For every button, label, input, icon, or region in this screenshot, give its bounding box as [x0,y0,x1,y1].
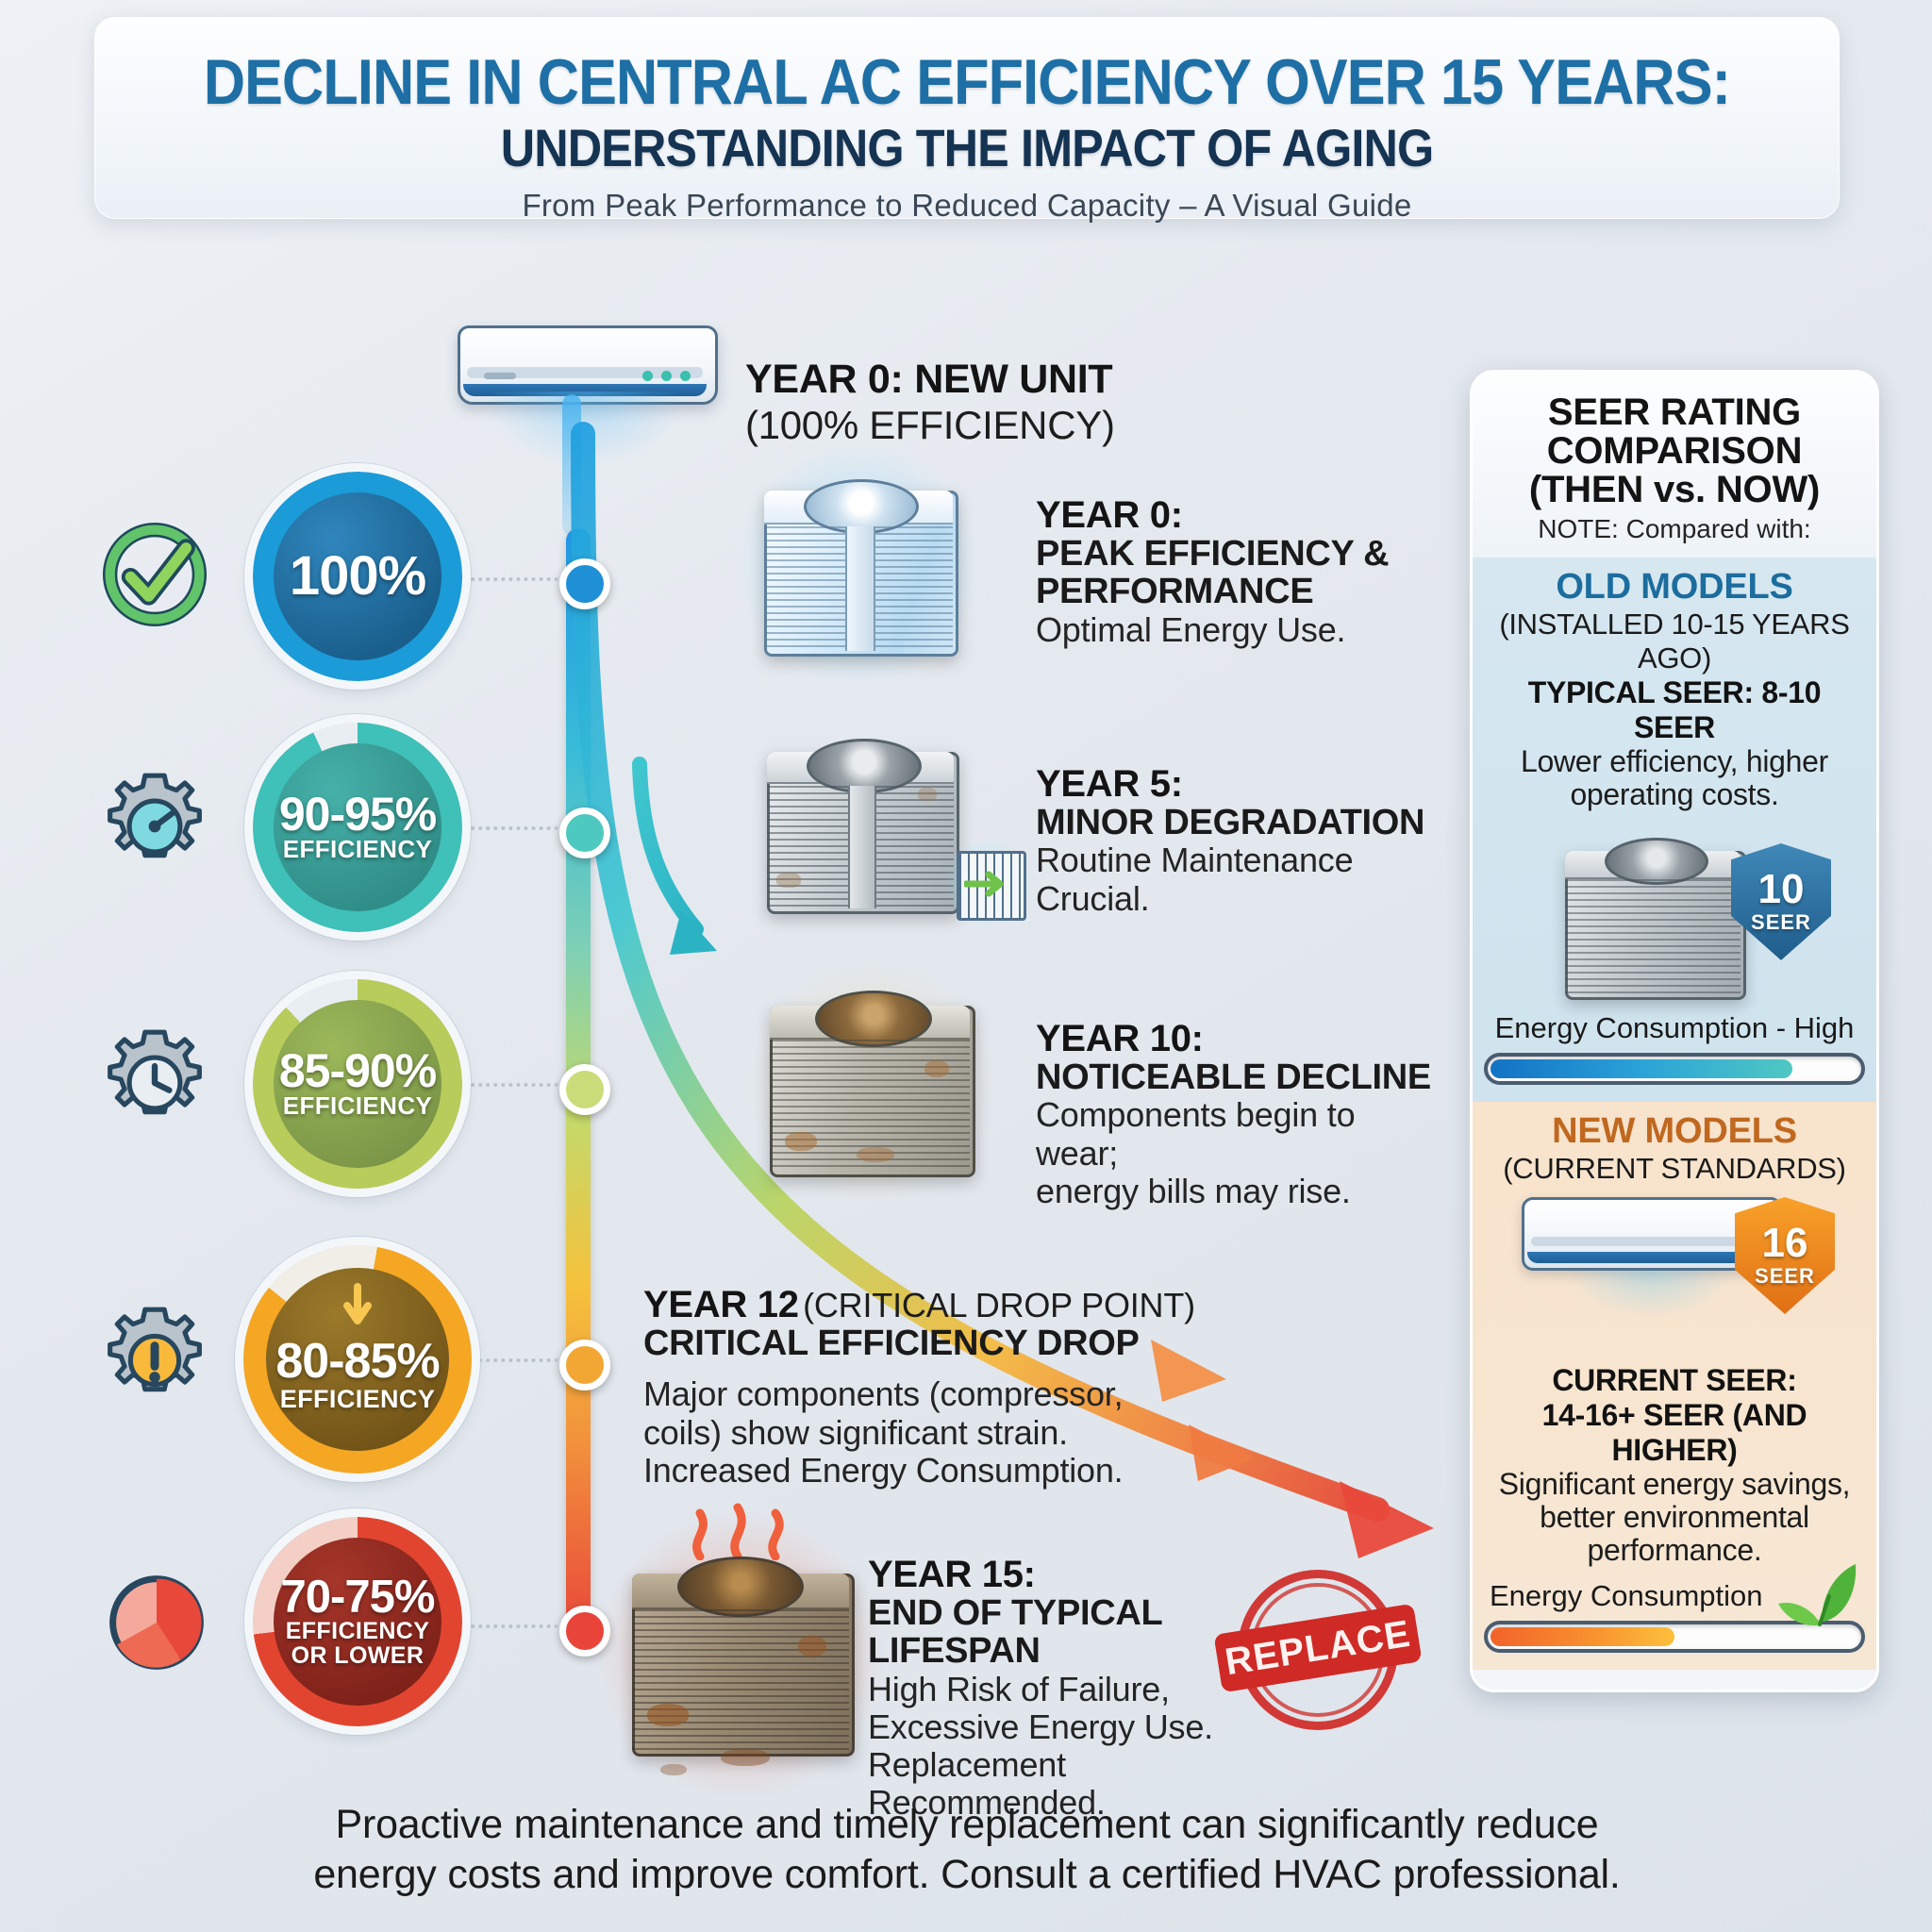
old-models-section: OLD MODELS (INSTALLED 10-15 YEARS AGO) T… [1473,558,1876,1102]
seer-comparison-panel: SEER RATING COMPARISON (THEN vs. NOW) NO… [1470,370,1879,1692]
milestone-year-10: YEAR 10: NOTICEABLE DECLINE Components b… [1036,1019,1441,1210]
gear-alert-icon [94,1300,215,1421]
milestone-year-12-headline: CRITICAL EFFICIENCY DROP [643,1324,1172,1362]
air-filter-icon [943,838,1034,928]
gauge-80-85[interactable]: 80-85% EFFICIENCY [243,1245,472,1474]
milestone-year-12-year-note: (CRITICAL DROP POINT) [803,1286,1195,1324]
condenser-year-10 [762,981,979,1184]
new-seer-badge-label: SEER [1755,1264,1815,1289]
timeline-node-year-10[interactable] [559,1064,610,1115]
milestone-year-0: YEAR 0: PEAK EFFICIENCY & PERFORMANCE Op… [1036,495,1432,649]
gauge-inner-85-90: 85-90% EFFICIENCY [274,1000,441,1168]
new-models-body-1: Significant energy savings, [1484,1468,1865,1501]
seer-title-line-1: SEER RATING [1486,393,1863,432]
old-seer-badge-label: SEER [1751,910,1811,935]
milestone-year-0-body: Optimal Energy Use. [1036,611,1432,649]
indicator-lights [642,371,693,381]
gauge-85-90[interactable]: 85-90% EFFICIENCY [253,979,462,1189]
gauge-label-85-90: EFFICIENCY [283,1093,433,1119]
condenser-year-0 [755,470,962,658]
condenser-year-15 [623,1547,858,1764]
old-energy-bar-track [1484,1053,1865,1085]
milestone-year-0-headline-1: PEAK EFFICIENCY & [1036,535,1432,573]
milestone-year-0-year: YEAR 0: [1036,495,1432,535]
milestone-year-5-headline: MINOR DEGRADATION [1036,804,1441,841]
gauge-value-85-90: 85-90% [279,1049,436,1094]
new-models-section: NEW MODELS (CURRENT STANDARDS) 16 SEER C… [1473,1102,1876,1670]
gauge-100[interactable]: 100% [253,472,462,681]
gauge-inner-80-85: 80-85% EFFICIENCY [266,1268,449,1451]
old-models-seer-line: TYPICAL SEER: 8-10 SEER [1484,675,1865,745]
check-circle-icon [94,514,215,635]
gear-clock-icon [94,1023,215,1143]
seer-note: NOTE: Compared with: [1486,514,1863,544]
seer-title-line-2: COMPARISON [1486,432,1863,471]
gauge-inner-70-75: 70-75% EFFICIENCY OR LOWER [274,1538,441,1706]
milestone-year-12-year: YEAR 12 [643,1284,799,1325]
gauge-value-90-95: 90-95% [279,792,436,838]
gauge-label-90-95: EFFICIENCY [283,837,433,862]
old-condenser-illustration [1565,830,1740,996]
leaf-icon [1773,1558,1859,1626]
page-tagline: From Peak Performance to Reduced Capacit… [95,188,1839,224]
new-models-subtitle: (CURRENT STANDARDS) [1484,1152,1865,1186]
gauge-label-70-75: EFFICIENCY OR LOWER [274,1619,441,1668]
footer-note: Proactive maintenance and timely replace… [236,1800,1698,1901]
new-unit-airflow [1533,1271,1769,1352]
gear-gauge-icon [94,766,215,887]
milestone-year-15-body-2: Excessive Energy Use. [868,1708,1292,1746]
new-models-body-2: better environmental [1484,1501,1865,1534]
timeline-node-year-5[interactable] [559,808,610,858]
milestone-year-10-headline: NOTICEABLE DECLINE [1036,1058,1441,1096]
page-title-secondary: UNDERSTANDING THE IMPACT OF AGING [182,122,1751,175]
old-models-body-2: operating costs. [1484,778,1865,811]
seer-panel-header: SEER RATING COMPARISON (THEN vs. NOW) NO… [1473,373,1876,558]
old-energy-bar-label: Energy Consumption - High [1484,1011,1865,1045]
gauge-inner-100: 100% [274,492,441,660]
replace-stamp: REPLACE [1238,1570,1398,1730]
timeline-node-year-12[interactable] [559,1340,610,1391]
new-energy-bar-fill [1491,1627,1674,1646]
footer-line-2: energy costs and improve comfort. Consul… [236,1850,1698,1900]
new-models-seer-label: CURRENT SEER: [1484,1363,1865,1398]
old-models-title: OLD MODELS [1484,567,1865,608]
seer-title-line-3: (THEN vs. NOW) [1486,471,1863,509]
heat-waves-icon [679,1498,821,1560]
gauge-value-70-75: 70-75% [281,1575,435,1620]
milestone-year-5-year: YEAR 5: [1036,764,1441,804]
pie-warning-icon [102,1568,211,1677]
gauge-value-80-85: 80-85% [275,1339,439,1385]
milestone-year-12: YEAR 12 (CRITICAL DROP POINT) CRITICAL E… [643,1285,1172,1490]
timeline-node-year-0[interactable] [559,558,610,609]
milestone-year-12-body-2: coils) show significant strain. [643,1414,1172,1452]
header-card: DECLINE IN CENTRAL AC EFFICIENCY OVER 15… [94,17,1840,219]
milestone-year-10-body-2: energy bills may rise. [1036,1173,1441,1210]
gauge-90-95[interactable]: 90-95% EFFICIENCY [253,723,462,932]
page-title-primary: DECLINE IN CENTRAL AC EFFICIENCY OVER 15… [182,50,1751,114]
gauge-value-100: 100% [290,550,425,602]
milestone-year-5: YEAR 5: MINOR DEGRADATION Routine Mainte… [1036,764,1441,918]
condenser-year-5 [759,731,962,915]
old-seer-badge-number: 10 [1758,869,1805,910]
new-models-seer-line: 14-16+ SEER (AND HIGHER) [1484,1398,1865,1468]
milestone-year-12-body-1: Major components (compressor, [643,1375,1172,1413]
milestone-year-10-body-1: Components begin to wear; [1036,1096,1441,1173]
gauge-inner-90-95: 90-95% EFFICIENCY [274,743,441,911]
old-models-subtitle: (INSTALLED 10-15 YEARS AGO) [1484,608,1865,675]
gauge-label-80-85: EFFICIENCY [280,1386,436,1412]
new-models-title: NEW MODELS [1484,1111,1865,1152]
old-energy-bar-fill [1491,1059,1792,1078]
milestone-year-10-year: YEAR 10: [1036,1019,1441,1058]
milestone-year-5-body: Routine Maintenance Crucial. [1036,841,1441,918]
gauge-70-75[interactable]: 70-75% EFFICIENCY OR LOWER [253,1517,462,1726]
infographic-canvas: DECLINE IN CENTRAL AC EFFICIENCY OVER 15… [0,0,1932,1932]
milestone-year-0-headline-2: PERFORMANCE [1036,573,1432,610]
milestone-year-15-year: YEAR 15: [868,1555,1292,1594]
old-models-body-1: Lower efficiency, higher [1484,745,1865,778]
new-seer-badge-number: 16 [1762,1223,1808,1264]
footer-line-1: Proactive maintenance and timely replace… [236,1800,1698,1850]
milestone-year-12-body-3: Increased Energy Consumption. [643,1452,1172,1490]
down-arrow-icon [341,1283,374,1329]
